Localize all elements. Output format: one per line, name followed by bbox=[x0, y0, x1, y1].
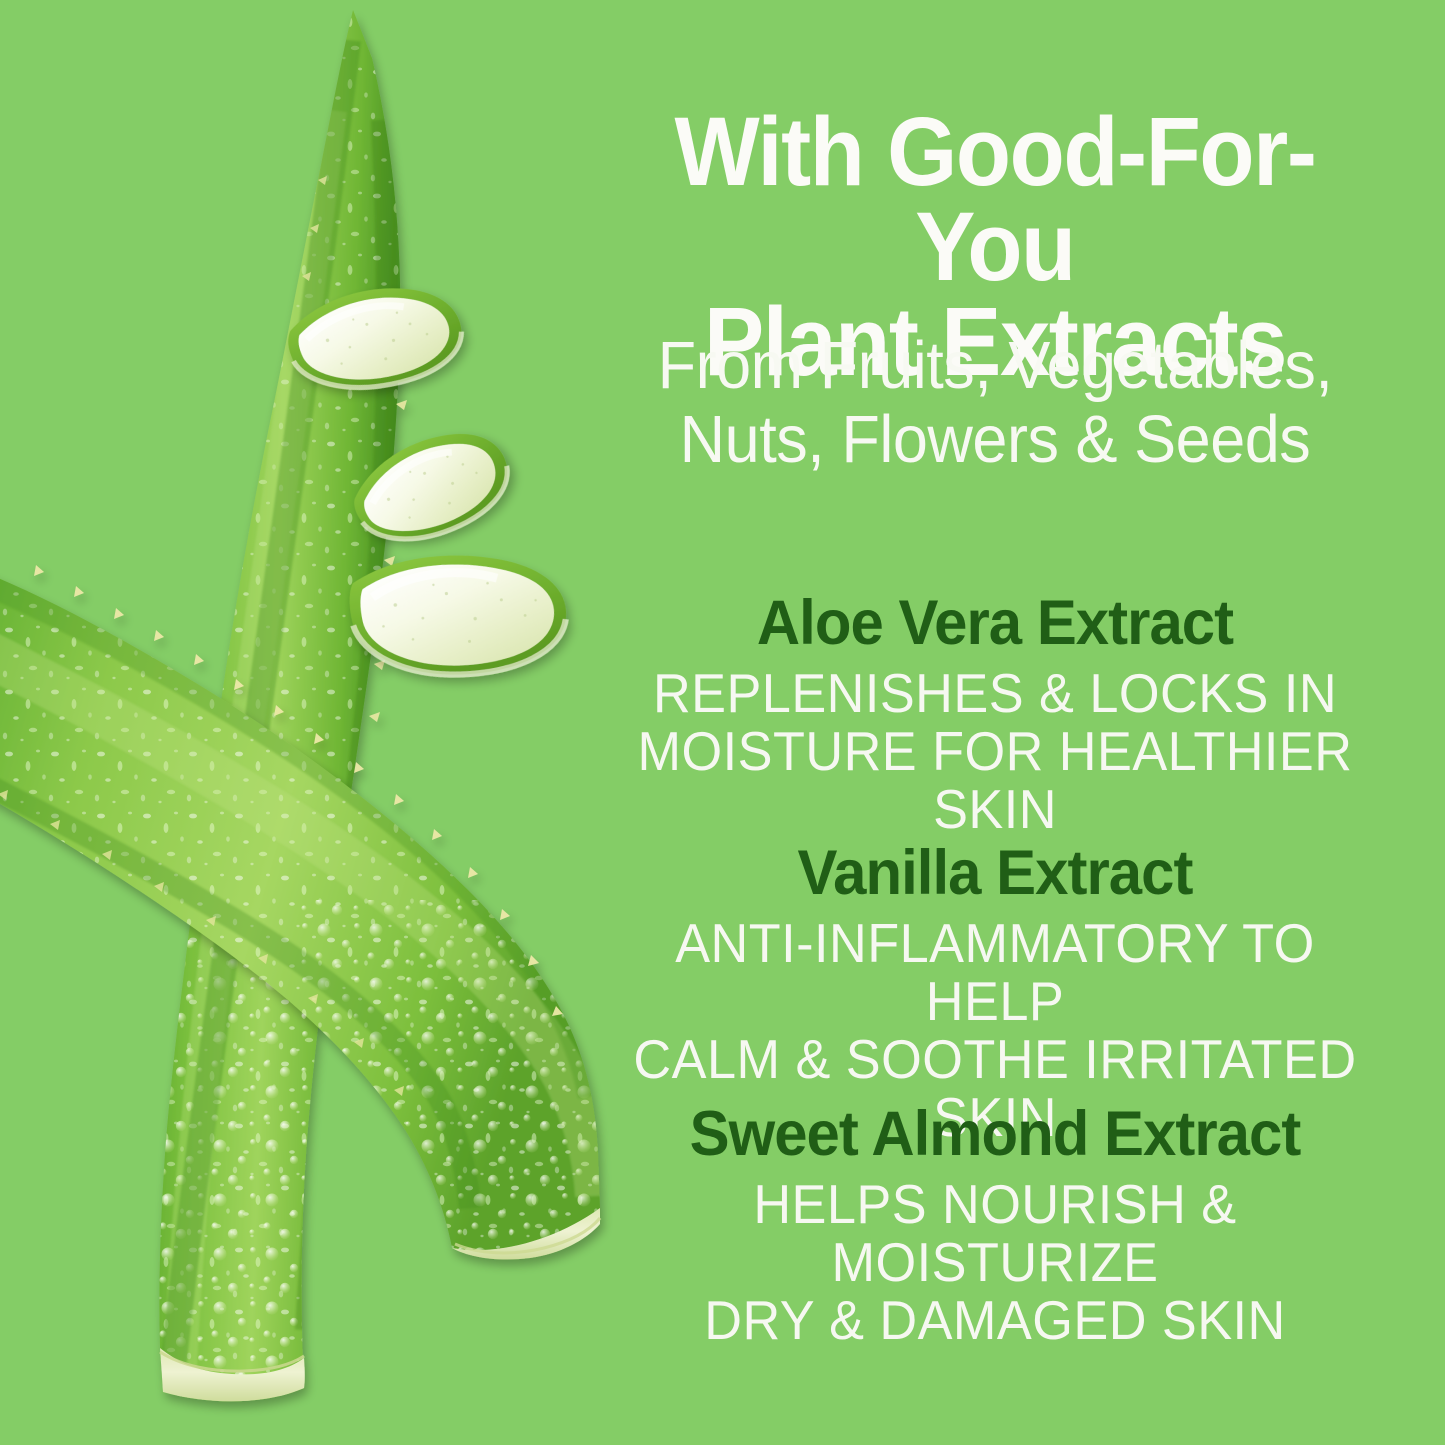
ingredient-description: REPLENISHES & LOCKS IN MOISTURE FOR HEAL… bbox=[620, 664, 1371, 838]
subhead-line-1: From Fruits, Vegetables, bbox=[658, 328, 1333, 403]
ingredient-name: Aloe Vera Extract bbox=[620, 590, 1371, 656]
ingredient-description: HELPS NOURISH & MOISTURIZE DRY & DAMAGED… bbox=[620, 1175, 1371, 1349]
aloe-artwork bbox=[0, 0, 620, 1445]
product-graphic: With Good-For-You Plant Extracts From Fr… bbox=[0, 0, 1445, 1445]
ingredient-name: Vanilla Extract bbox=[620, 840, 1371, 906]
page-subtitle: From Fruits, Vegetables, Nuts, Flowers &… bbox=[624, 329, 1367, 477]
ingredient-name: Sweet Almond Extract bbox=[620, 1101, 1371, 1167]
ingredient-desc-line-1: REPLENISHES & LOCKS IN bbox=[653, 662, 1337, 724]
copy-column: With Good-For-You Plant Extracts From Fr… bbox=[600, 0, 1390, 1445]
ingredient-desc-line-1: HELPS NOURISH & MOISTURIZE bbox=[753, 1173, 1236, 1293]
ingredient-desc-line-1: ANTI-INFLAMMATORY TO HELP bbox=[675, 912, 1315, 1032]
ingredient-desc-line-2: MOISTURE FOR HEALTHIER SKIN bbox=[620, 722, 1371, 838]
subhead-line-2: Nuts, Flowers & Seeds bbox=[624, 403, 1367, 477]
headline-line-1: With Good-For-You bbox=[675, 97, 1316, 301]
ingredient-aloe-vera: Aloe Vera Extract REPLENISHES & LOCKS IN… bbox=[600, 590, 1390, 838]
ingredient-sweet-almond: Sweet Almond Extract HELPS NOURISH & MOI… bbox=[600, 1101, 1390, 1349]
ingredient-desc-line-2: DRY & DAMAGED SKIN bbox=[620, 1291, 1371, 1349]
